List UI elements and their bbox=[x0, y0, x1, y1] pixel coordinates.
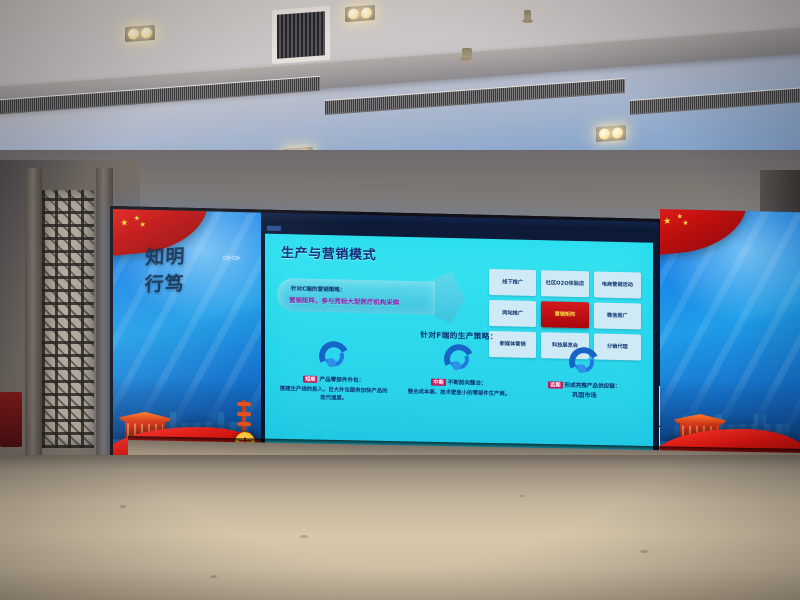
strategy-body: 巩固市场 bbox=[522, 391, 647, 402]
toolbar-chip bbox=[267, 226, 281, 231]
red-cabinet bbox=[0, 392, 22, 447]
strategy-body: 搭建生产线的投入，巨大外包服务加快产品的迭代速度。 bbox=[271, 385, 396, 404]
strategy-head-text: 不断前向整合： bbox=[448, 380, 487, 387]
air-diffuser bbox=[272, 6, 330, 64]
sprinkler-head bbox=[524, 10, 531, 22]
calligraphy-text: 知明行笃 bbox=[142, 244, 188, 299]
presentation-slide: 生产与营销模式 针对C端的营销策略： 营销矩阵，参与竞标大型医疗机构采购 线下推… bbox=[265, 234, 653, 455]
strategy-column: 中期不断前向整合： 整合成本高、技术壁垒小的零部件生产商。 bbox=[396, 343, 521, 407]
led-right-decor-panel-visual: ★ ★ ★ bbox=[660, 209, 800, 460]
callout-line-2: 营销矩阵，参与竞标大型医疗机构采购 bbox=[289, 295, 399, 307]
strategy-column: 短期产品零部件外包： 搭建生产线的投入，巨大外包服务加快产品的迭代速度。 bbox=[271, 340, 396, 404]
sprinkler-head bbox=[462, 48, 472, 62]
recessed-downlight bbox=[345, 5, 375, 22]
callout-arrow-shape bbox=[433, 272, 465, 325]
bird-silhouette-icon: ✑✑ bbox=[223, 252, 241, 265]
floor-light-pool bbox=[0, 470, 800, 600]
callout-line-1: 针对C端的营销策略： bbox=[291, 284, 345, 293]
strategy-head: 中期不断前向整合： bbox=[396, 377, 521, 388]
grid-row: 网站推广 营销矩阵 微信推广 bbox=[489, 300, 641, 330]
strategy-column: 远期形成完整产品供应链： 巩固市场 bbox=[522, 346, 647, 410]
marketing-strategy-callout: 针对C端的营销策略： 营销矩阵，参与竞标大型医疗机构采购 bbox=[277, 278, 435, 315]
grid-cell[interactable]: 网站推广 bbox=[489, 300, 536, 327]
slide-title: 生产与营销模式 bbox=[281, 242, 376, 263]
shared-screen[interactable]: 生产与营销模式 针对C端的营销策略： 营销矩阵，参与竞标大型医疗机构采购 线下推… bbox=[261, 213, 659, 468]
strategy-tag: 远期 bbox=[548, 381, 562, 388]
swirl-icon bbox=[444, 344, 474, 375]
grid-cell[interactable]: 电商营销活动 bbox=[594, 271, 641, 298]
led-left-decor-panel: ★ ★ ★ 知明行笃 ✑✑ bbox=[113, 209, 261, 458]
conference-hall-photo: ★ ★ ★ 知明行笃 ✑✑ bbox=[0, 0, 800, 600]
grid-cell[interactable]: 微信推广 bbox=[594, 302, 641, 329]
swirl-icon bbox=[319, 341, 349, 372]
strategy-body: 整合成本高、技术壁垒小的零部件生产商。 bbox=[396, 388, 521, 399]
strategy-tag: 短期 bbox=[303, 376, 317, 383]
recessed-downlight bbox=[125, 25, 155, 42]
grid-row: 线下推广 社区O2O体验店 电商营销活动 bbox=[489, 269, 641, 299]
strategy-columns: 短期产品零部件外包： 搭建生产线的投入，巨大外包服务加快产品的迭代速度。 中期不… bbox=[271, 340, 647, 410]
strategy-head-text: 形成完整产品供应链： bbox=[565, 383, 621, 390]
grid-cell-highlighted[interactable]: 营销矩阵 bbox=[541, 301, 588, 328]
strategy-head-text: 产品零部件外包： bbox=[319, 377, 364, 384]
strategy-head: 远期形成完整产品供应链： bbox=[522, 380, 647, 391]
wall-pillar bbox=[25, 168, 42, 458]
fretwork-lattice-panel bbox=[42, 190, 94, 448]
grid-cell[interactable]: 社区O2O体验店 bbox=[541, 270, 588, 297]
strategy-head: 短期产品零部件外包： bbox=[271, 374, 396, 385]
strategy-tag: 中期 bbox=[431, 379, 445, 386]
grid-cell[interactable]: 线下推广 bbox=[489, 269, 536, 296]
swirl-icon bbox=[569, 347, 599, 378]
